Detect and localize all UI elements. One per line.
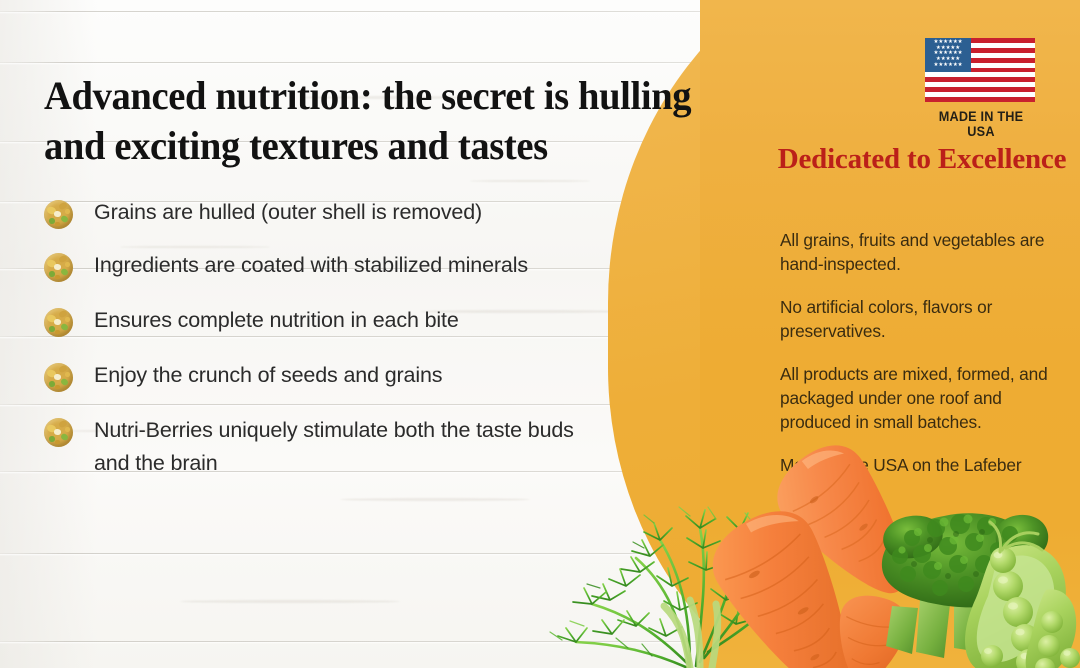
- list-item-label: Enjoy the crunch of seeds and grains: [94, 359, 442, 392]
- nutri-berry-icon: [44, 363, 73, 392]
- panel-paragraph: No artificial colors, flavors or preserv…: [780, 295, 1052, 343]
- nutri-berry-icon: [44, 308, 73, 337]
- usa-flag-icon: ★★★★★★ ★★★★★ ★★★★★★ ★★★★★ ★★★★★★: [925, 38, 1035, 102]
- list-item: Nutri-Berries uniquely stimulate both th…: [44, 414, 604, 480]
- list-item: Ingredients are coated with stabilized m…: [44, 249, 604, 282]
- flag-canton: ★★★★★★ ★★★★★ ★★★★★★ ★★★★★ ★★★★★★: [925, 38, 971, 72]
- panel-paragraph: All products are mixed, formed, and pack…: [780, 362, 1052, 434]
- list-item-label: Grains are hulled (outer shell is remove…: [94, 196, 482, 229]
- nutri-berry-icon: [44, 418, 73, 447]
- panel-paragraph: Made in the USA on the Lafeber Family Fa…: [780, 453, 1052, 501]
- panel-body: All grains, fruits and vegetables are ha…: [780, 228, 1052, 520]
- benefit-list: Grains are hulled (outer shell is remove…: [44, 196, 604, 500]
- panel-paragraph: All grains, fruits and vegetables are ha…: [780, 228, 1052, 276]
- list-item: Enjoy the crunch of seeds and grains: [44, 359, 604, 392]
- made-in-usa-caption: MADE IN THE USA: [928, 109, 1033, 139]
- page-title: Advanced nutrition: the secret is hullin…: [44, 71, 758, 171]
- list-item-label: Ingredients are coated with stabilized m…: [94, 249, 528, 282]
- infographic-poster: Advanced nutrition: the secret is hullin…: [0, 0, 1080, 668]
- list-item: Ensures complete nutrition in each bite: [44, 304, 604, 337]
- made-in-usa-badge: ★★★★★★ ★★★★★ ★★★★★★ ★★★★★ ★★★★★★ MADE IN…: [925, 38, 1037, 139]
- list-item: Grains are hulled (outer shell is remove…: [44, 196, 604, 229]
- list-item-label: Ensures complete nutrition in each bite: [94, 304, 459, 337]
- panel-heading: Dedicated to Excellence: [772, 140, 1072, 178]
- nutri-berry-icon: [44, 253, 73, 282]
- list-item-label: Nutri-Berries uniquely stimulate both th…: [94, 414, 604, 480]
- nutri-berry-icon: [44, 200, 73, 229]
